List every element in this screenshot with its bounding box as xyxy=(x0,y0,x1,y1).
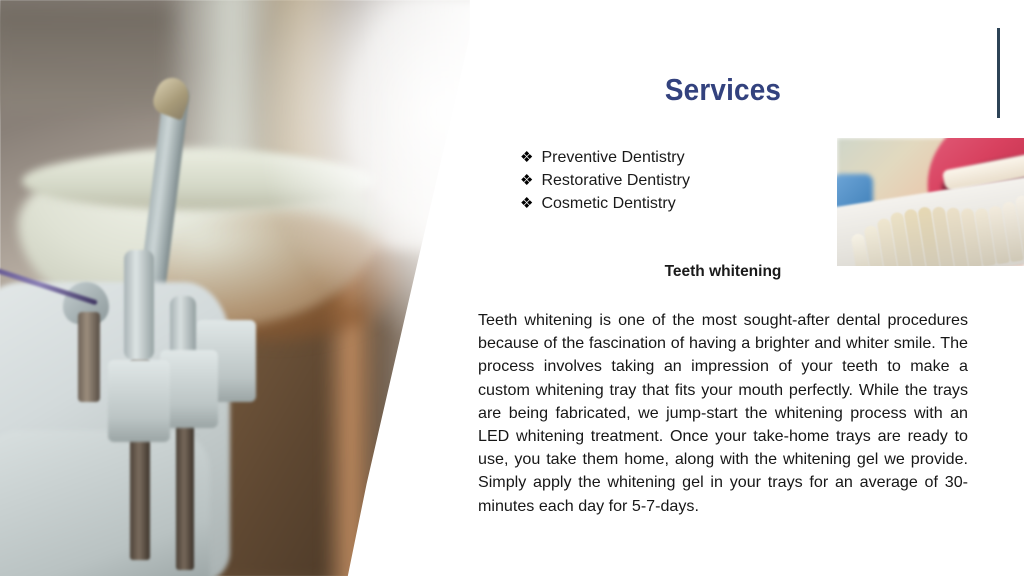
diamond-bullet-icon: ❖ xyxy=(520,192,533,215)
section-heading: Teeth whitening xyxy=(478,263,968,281)
list-item-label: Preventive Dentistry xyxy=(541,146,684,169)
page-title: Services xyxy=(503,72,944,108)
section-paragraph: Teeth whitening is one of the most sough… xyxy=(478,309,968,518)
accent-rule xyxy=(997,28,1000,118)
dental-chair-photo xyxy=(0,0,470,576)
list-item: ❖ Restorative Dentistry xyxy=(520,169,850,192)
list-item-label: Restorative Dentistry xyxy=(541,169,690,192)
services-list: ❖ Preventive Dentistry ❖ Restorative Den… xyxy=(520,146,850,215)
list-item: ❖ Preventive Dentistry xyxy=(520,146,850,169)
tooth-shade-guide-photo xyxy=(837,138,1024,266)
diamond-bullet-icon: ❖ xyxy=(520,169,533,192)
slide-canvas: Services ❖ Preventive Dentistry ❖ Restor… xyxy=(0,0,1024,576)
list-item-label: Cosmetic Dentistry xyxy=(541,192,675,215)
diamond-bullet-icon: ❖ xyxy=(520,146,533,169)
list-item: ❖ Cosmetic Dentistry xyxy=(520,192,850,215)
